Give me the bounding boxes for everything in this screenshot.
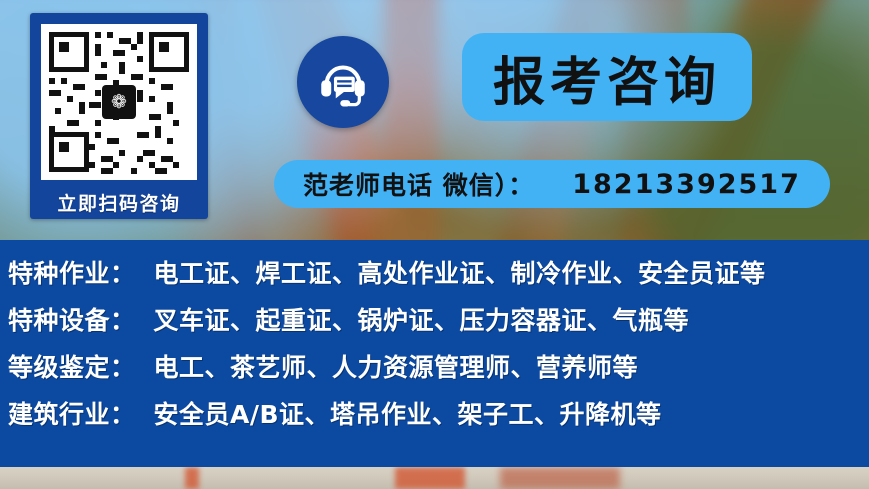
contact-phone-number[interactable]: 18213392517 — [572, 169, 801, 200]
service-category-label: 特种作业： — [8, 254, 136, 290]
service-row: 等级鉴定： 电工、茶艺师、人力资源管理师、营养师等 — [0, 348, 869, 395]
strip-beam — [395, 467, 465, 489]
qr-finder-top-right — [149, 32, 189, 72]
page-title: 报考咨询 — [493, 40, 721, 115]
service-items-label: 电工、茶艺师、人力资源管理师、营养师等 — [154, 348, 639, 384]
service-category-label: 等级鉴定： — [8, 348, 136, 384]
contact-label: 范老师电话 微信）： — [303, 166, 534, 202]
service-row: 建筑行业： 安全员A/B证、塔吊作业、架子工、升降机等 — [0, 395, 869, 442]
poster-root: ❁ 立即扫码咨询 报考咨询 范老师电话 微信）： 18213392517 特种作… — [0, 0, 869, 489]
qr-finder-bottom-left — [49, 132, 89, 172]
service-items-label: 叉车证、起重证、锅炉证、压力容器证、气瓶等 — [154, 301, 690, 337]
strip-beam — [500, 467, 620, 489]
wechat-logo-glyph: ❁ — [111, 93, 127, 112]
headset-chat-icon — [297, 36, 389, 128]
wechat-logo-icon: ❁ — [102, 85, 136, 119]
service-row: 特种设备： 叉车证、起重证、锅炉证、压力容器证、气瓶等 — [0, 301, 869, 348]
service-items-label: 电工证、焊工证、高处作业证、制冷作业、安全员证等 — [154, 254, 766, 290]
services-panel: 特种作业： 电工证、焊工证、高处作业证、制冷作业、安全员证等 特种设备： 叉车证… — [0, 240, 869, 467]
contact-banner[interactable]: 范老师电话 微信）： 18213392517 — [274, 160, 830, 208]
qr-scan-label: 立即扫码咨询 — [57, 189, 180, 216]
qr-code-image[interactable]: ❁ — [41, 24, 197, 180]
qr-code-card[interactable]: ❁ 立即扫码咨询 — [30, 13, 208, 219]
strip-beam — [185, 467, 199, 489]
main-title-banner: 报考咨询 — [462, 33, 752, 121]
service-category-label: 特种设备： — [8, 301, 136, 337]
service-row: 特种作业： 电工证、焊工证、高处作业证、制冷作业、安全员证等 — [0, 254, 869, 301]
service-items-label: 安全员A/B证、塔吊作业、架子工、升降机等 — [154, 395, 662, 431]
qr-finder-top-left — [49, 32, 89, 72]
bottom-photo-strip — [0, 467, 869, 489]
service-category-label: 建筑行业： — [8, 395, 136, 431]
